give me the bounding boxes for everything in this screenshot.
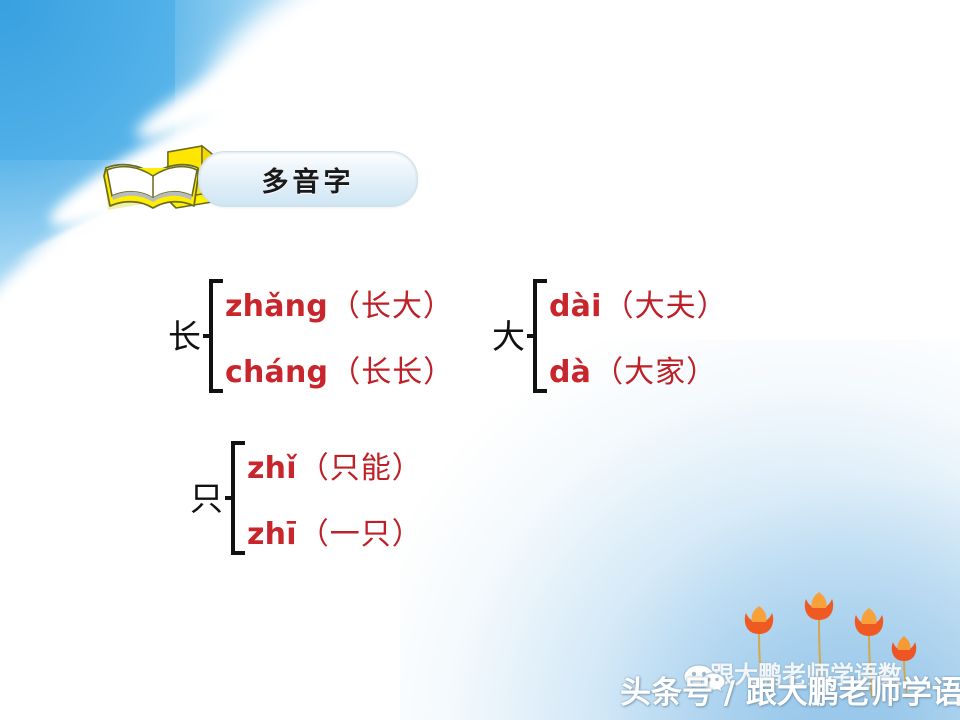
example-word: （只能） xyxy=(299,443,423,487)
head-character: 长 xyxy=(168,320,201,353)
sky-background xyxy=(0,0,175,160)
polyphone-group-zhi: 只 zhǐ （只能） zhī （一只） xyxy=(190,440,423,556)
head-character: 只 xyxy=(190,482,223,515)
reading-row: cháng （长长） xyxy=(225,347,454,391)
slide-canvas: 多音字 长 zhǎng （长大） cháng （长长） 大 xyxy=(0,0,960,720)
title-pill-label: 多音字 xyxy=(262,160,355,199)
title-pill: 多音字 xyxy=(198,151,418,207)
example-word: （一只） xyxy=(299,509,423,553)
watermark-ghost-text: 跟大鹏老师学语数 xyxy=(710,655,902,690)
pinyin: zhǐ xyxy=(247,451,297,486)
pinyin: zhī xyxy=(247,517,297,552)
example-word: （长大） xyxy=(330,281,454,325)
cloud-streak xyxy=(127,0,444,156)
brace-bracket xyxy=(527,278,549,394)
example-word: （大家） xyxy=(593,347,717,391)
bottom-right-glow xyxy=(400,340,960,720)
pinyin: dà xyxy=(549,355,591,390)
tulip-flowers xyxy=(702,558,932,698)
pinyin: cháng xyxy=(225,355,328,390)
example-word: （大夫） xyxy=(604,281,728,325)
bottom-right-glow-inner xyxy=(600,480,960,720)
watermark-main-text: 头条号 / 跟大鹏老师学语数 xyxy=(620,667,960,712)
pinyin: dài xyxy=(549,289,602,324)
reading-row: zhǎng （长大） xyxy=(225,281,454,325)
pinyin: zhǎng xyxy=(225,289,328,324)
reading-list: zhǐ （只能） zhī （一只） xyxy=(247,443,423,553)
brace-bracket xyxy=(225,440,247,556)
example-word: （长长） xyxy=(330,347,454,391)
polyphone-group-da: 大 dài （大夫） dà （大家） xyxy=(492,278,728,394)
reading-list: dài （大夫） dà （大家） xyxy=(549,281,728,391)
section-title: 多音字 xyxy=(98,140,428,220)
reading-row: dài （大夫） xyxy=(549,281,728,325)
reading-row: zhī （一只） xyxy=(247,509,423,553)
polyphone-group-chang: 长 zhǎng （长大） cháng （长长） xyxy=(168,278,454,394)
reading-row: dà （大家） xyxy=(549,347,728,391)
brace-bracket xyxy=(203,278,225,394)
reading-list: zhǎng （长大） cháng （长长） xyxy=(225,281,454,391)
reading-row: zhǐ （只能） xyxy=(247,443,423,487)
footer-watermark: 跟大鹏老师学语数 头条号 / 跟大鹏老师学语数 xyxy=(620,660,960,716)
wechat-icon xyxy=(682,662,728,696)
head-character: 大 xyxy=(492,320,525,353)
